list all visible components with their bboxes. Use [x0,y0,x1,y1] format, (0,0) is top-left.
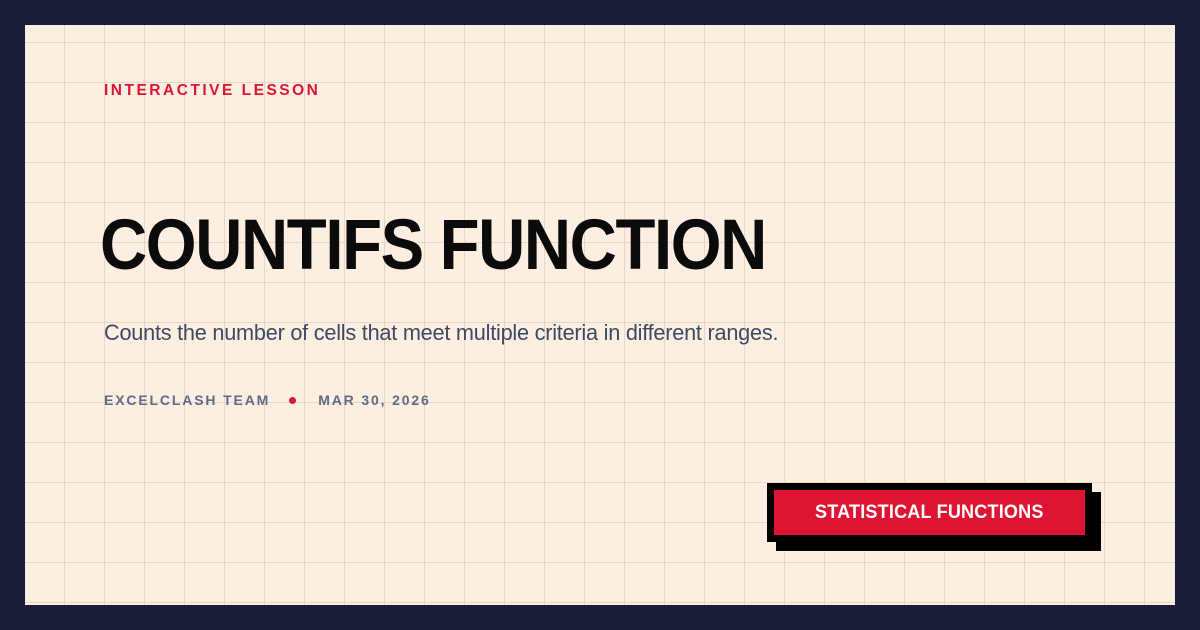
graph-paper-background: INTERACTIVE LESSON COUNTIFS FUNCTION Cou… [25,25,1175,605]
page-title: COUNTIFS FUNCTION [100,213,766,280]
byline-date: MAR 30, 2026 [318,393,430,407]
badge-body[interactable]: STATISTICAL FUNCTIONS [767,483,1092,542]
byline-author: EXCELCLASH TEAM [104,393,270,407]
page-subtitle: Counts the number of cells that meet mul… [104,318,778,347]
dot-separator-icon [289,397,296,404]
byline: EXCELCLASH TEAM MAR 30, 2026 [104,393,431,407]
badge-label: STATISTICAL FUNCTIONS [815,503,1044,522]
eyebrow-label: INTERACTIVE LESSON [104,83,320,99]
lesson-card: INTERACTIVE LESSON COUNTIFS FUNCTION Cou… [0,0,1200,630]
category-badge[interactable]: STATISTICAL FUNCTIONS [767,483,1101,551]
